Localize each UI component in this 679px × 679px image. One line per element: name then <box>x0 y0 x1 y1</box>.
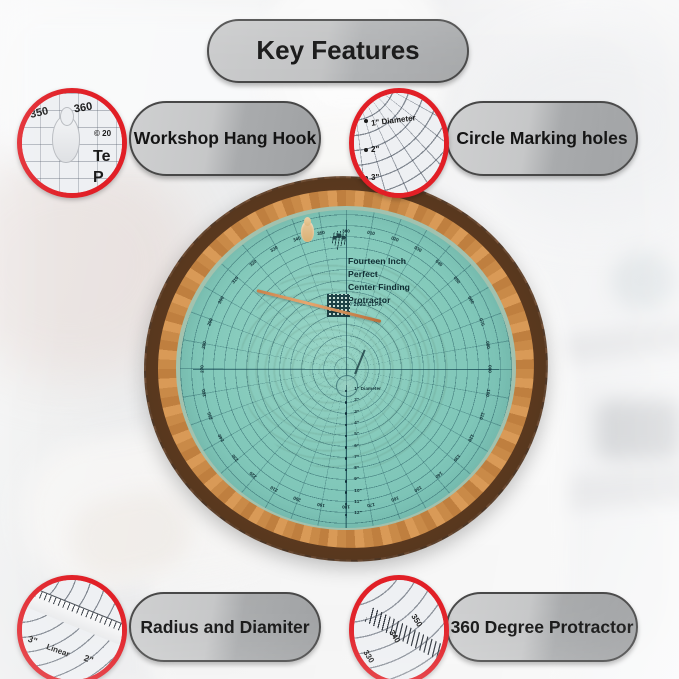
feature-label-radius-and-diamiter[interactable]: Radius and Diamiter <box>129 592 321 662</box>
diameter-label: 10" <box>354 488 362 493</box>
diameter-label: 9" <box>354 476 359 481</box>
callout-hang-label-copyright: © 20 <box>94 129 111 138</box>
degree-label: 360 <box>342 228 350 233</box>
degree-label: 090 <box>488 365 493 373</box>
callout-hang-label-te: Te <box>93 148 110 166</box>
callout-hang-hook-image: 350 360 © 20 Te P <box>22 93 122 193</box>
disc-title-line-2: Perfect <box>348 269 378 280</box>
marking-hole-2 <box>364 148 368 152</box>
callout-protractor-image: 350 340 330 <box>354 580 444 679</box>
diameter-label: 5" <box>354 431 359 436</box>
disc-copyright: © 2023 CLPA <box>348 302 382 308</box>
diameter-label: 3" <box>354 409 359 414</box>
keyhole-hang-hook[interactable] <box>301 221 314 242</box>
wood-slice-with-protractor: Fourteen Inch Perfect Center Finding Pro… <box>146 178 546 560</box>
callout-ruler-image: 3" Linear 2" <box>22 580 122 679</box>
callout-radius-diameter[interactable]: 3" Linear 2" <box>17 575 127 679</box>
disc-title-line-3: Center Finding <box>348 282 410 293</box>
hang-hook-shape-icon <box>52 115 80 163</box>
feature-label-360-degree-protractor[interactable]: 360 Degree Protractor <box>446 592 638 662</box>
callout-rays <box>349 88 449 198</box>
degree-label: 270 <box>199 365 204 373</box>
page-title: Key Features <box>207 19 469 83</box>
tree-logo-icon <box>328 231 350 255</box>
diameter-label: 12" <box>354 510 362 515</box>
degree-label: 280 <box>201 341 207 349</box>
diameter-label: 1" Diameter <box>354 386 381 391</box>
disc-title-line-1: Fourteen Inch <box>348 256 406 267</box>
diameter-label: 8" <box>354 465 359 470</box>
diameter-label: 4" <box>354 420 359 425</box>
callout-circle-label-3in: 3" <box>371 173 379 182</box>
diameter-tick <box>345 401 348 404</box>
callout-hang-hook[interactable]: 350 360 © 20 Te P <box>17 88 127 198</box>
feature-label-circle-marking-holes[interactable]: Circle Marking holes <box>446 101 638 176</box>
key-features-infographic: Fourteen Inch Perfect Center Finding Pro… <box>0 0 679 679</box>
callout-circle-label-2in: 2" <box>371 145 379 154</box>
diameter-tick <box>345 480 348 483</box>
diameter-label: 7" <box>354 454 359 459</box>
degree-label: 260 <box>201 389 207 397</box>
diameter-label: 2" <box>354 397 359 402</box>
callout-hang-label-p: P <box>93 169 104 187</box>
degree-label: 010 <box>367 230 375 236</box>
callout-360-protractor[interactable]: 350 340 330 <box>349 575 449 679</box>
callout-circle-image: 1" Diameter 2" 3" <box>354 93 444 193</box>
feature-label-workshop-hang-hook[interactable]: Workshop Hang Hook <box>129 101 321 176</box>
degree-label: 350 <box>317 230 325 236</box>
degree-label: 180 <box>342 505 350 510</box>
marking-hole-1 <box>364 119 368 123</box>
diameter-label: 6" <box>354 443 359 448</box>
center-finding-protractor-disc[interactable]: Fourteen Inch Perfect Center Finding Pro… <box>180 210 512 528</box>
callout-circle-marking-holes[interactable]: 1" Diameter 2" 3" <box>349 88 449 198</box>
diameter-label: 11" <box>354 499 361 504</box>
marking-hole-3 <box>364 176 368 180</box>
